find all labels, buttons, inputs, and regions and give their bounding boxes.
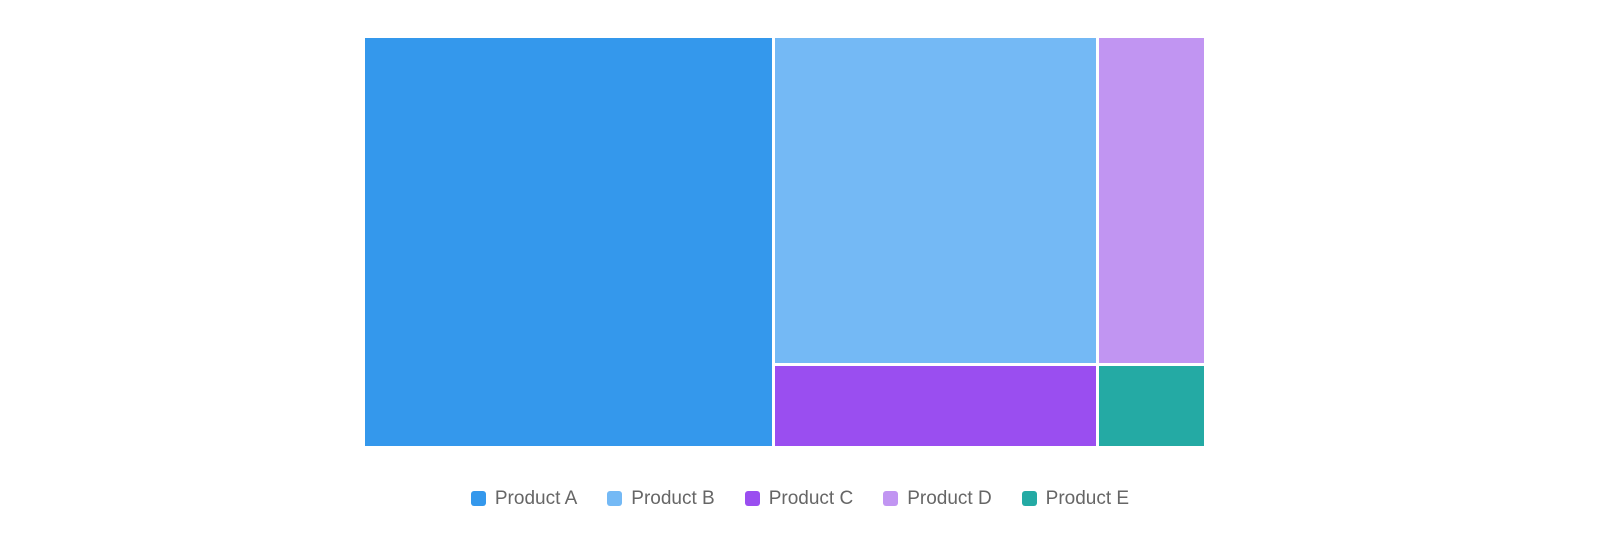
legend-swatch-icon — [471, 491, 486, 506]
treemap-chart: Product AProduct BProduct CProduct DProd… — [0, 0, 1600, 560]
legend-item-label: Product E — [1046, 489, 1129, 508]
legend-swatch-icon — [883, 491, 898, 506]
legend-item-product-b[interactable]: Product B — [607, 489, 714, 508]
legend-item-label: Product D — [907, 489, 991, 508]
legend-item-product-a[interactable]: Product A — [471, 489, 577, 508]
legend-swatch-icon — [1022, 491, 1037, 506]
chart-legend: Product AProduct BProduct CProduct DProd… — [0, 478, 1600, 518]
legend-item-product-e[interactable]: Product E — [1022, 489, 1129, 508]
treemap-tile-product-d[interactable]: Product D — [1099, 38, 1204, 363]
treemap-tile-product-b[interactable]: Product B — [775, 38, 1096, 363]
treemap-plot-area: Product AProduct BProduct CProduct DProd… — [365, 38, 1204, 446]
legend-item-label: Product C — [769, 489, 853, 508]
treemap-tile-product-a[interactable]: Product A — [365, 38, 772, 446]
legend-item-product-d[interactable]: Product D — [883, 489, 991, 508]
legend-item-label: Product A — [495, 489, 577, 508]
legend-item-product-c[interactable]: Product C — [745, 489, 853, 508]
treemap-tile-product-e[interactable]: Product E — [1099, 366, 1204, 446]
legend-swatch-icon — [745, 491, 760, 506]
legend-swatch-icon — [607, 491, 622, 506]
treemap-tile-product-c[interactable]: Product C — [775, 366, 1096, 446]
legend-item-label: Product B — [631, 489, 714, 508]
